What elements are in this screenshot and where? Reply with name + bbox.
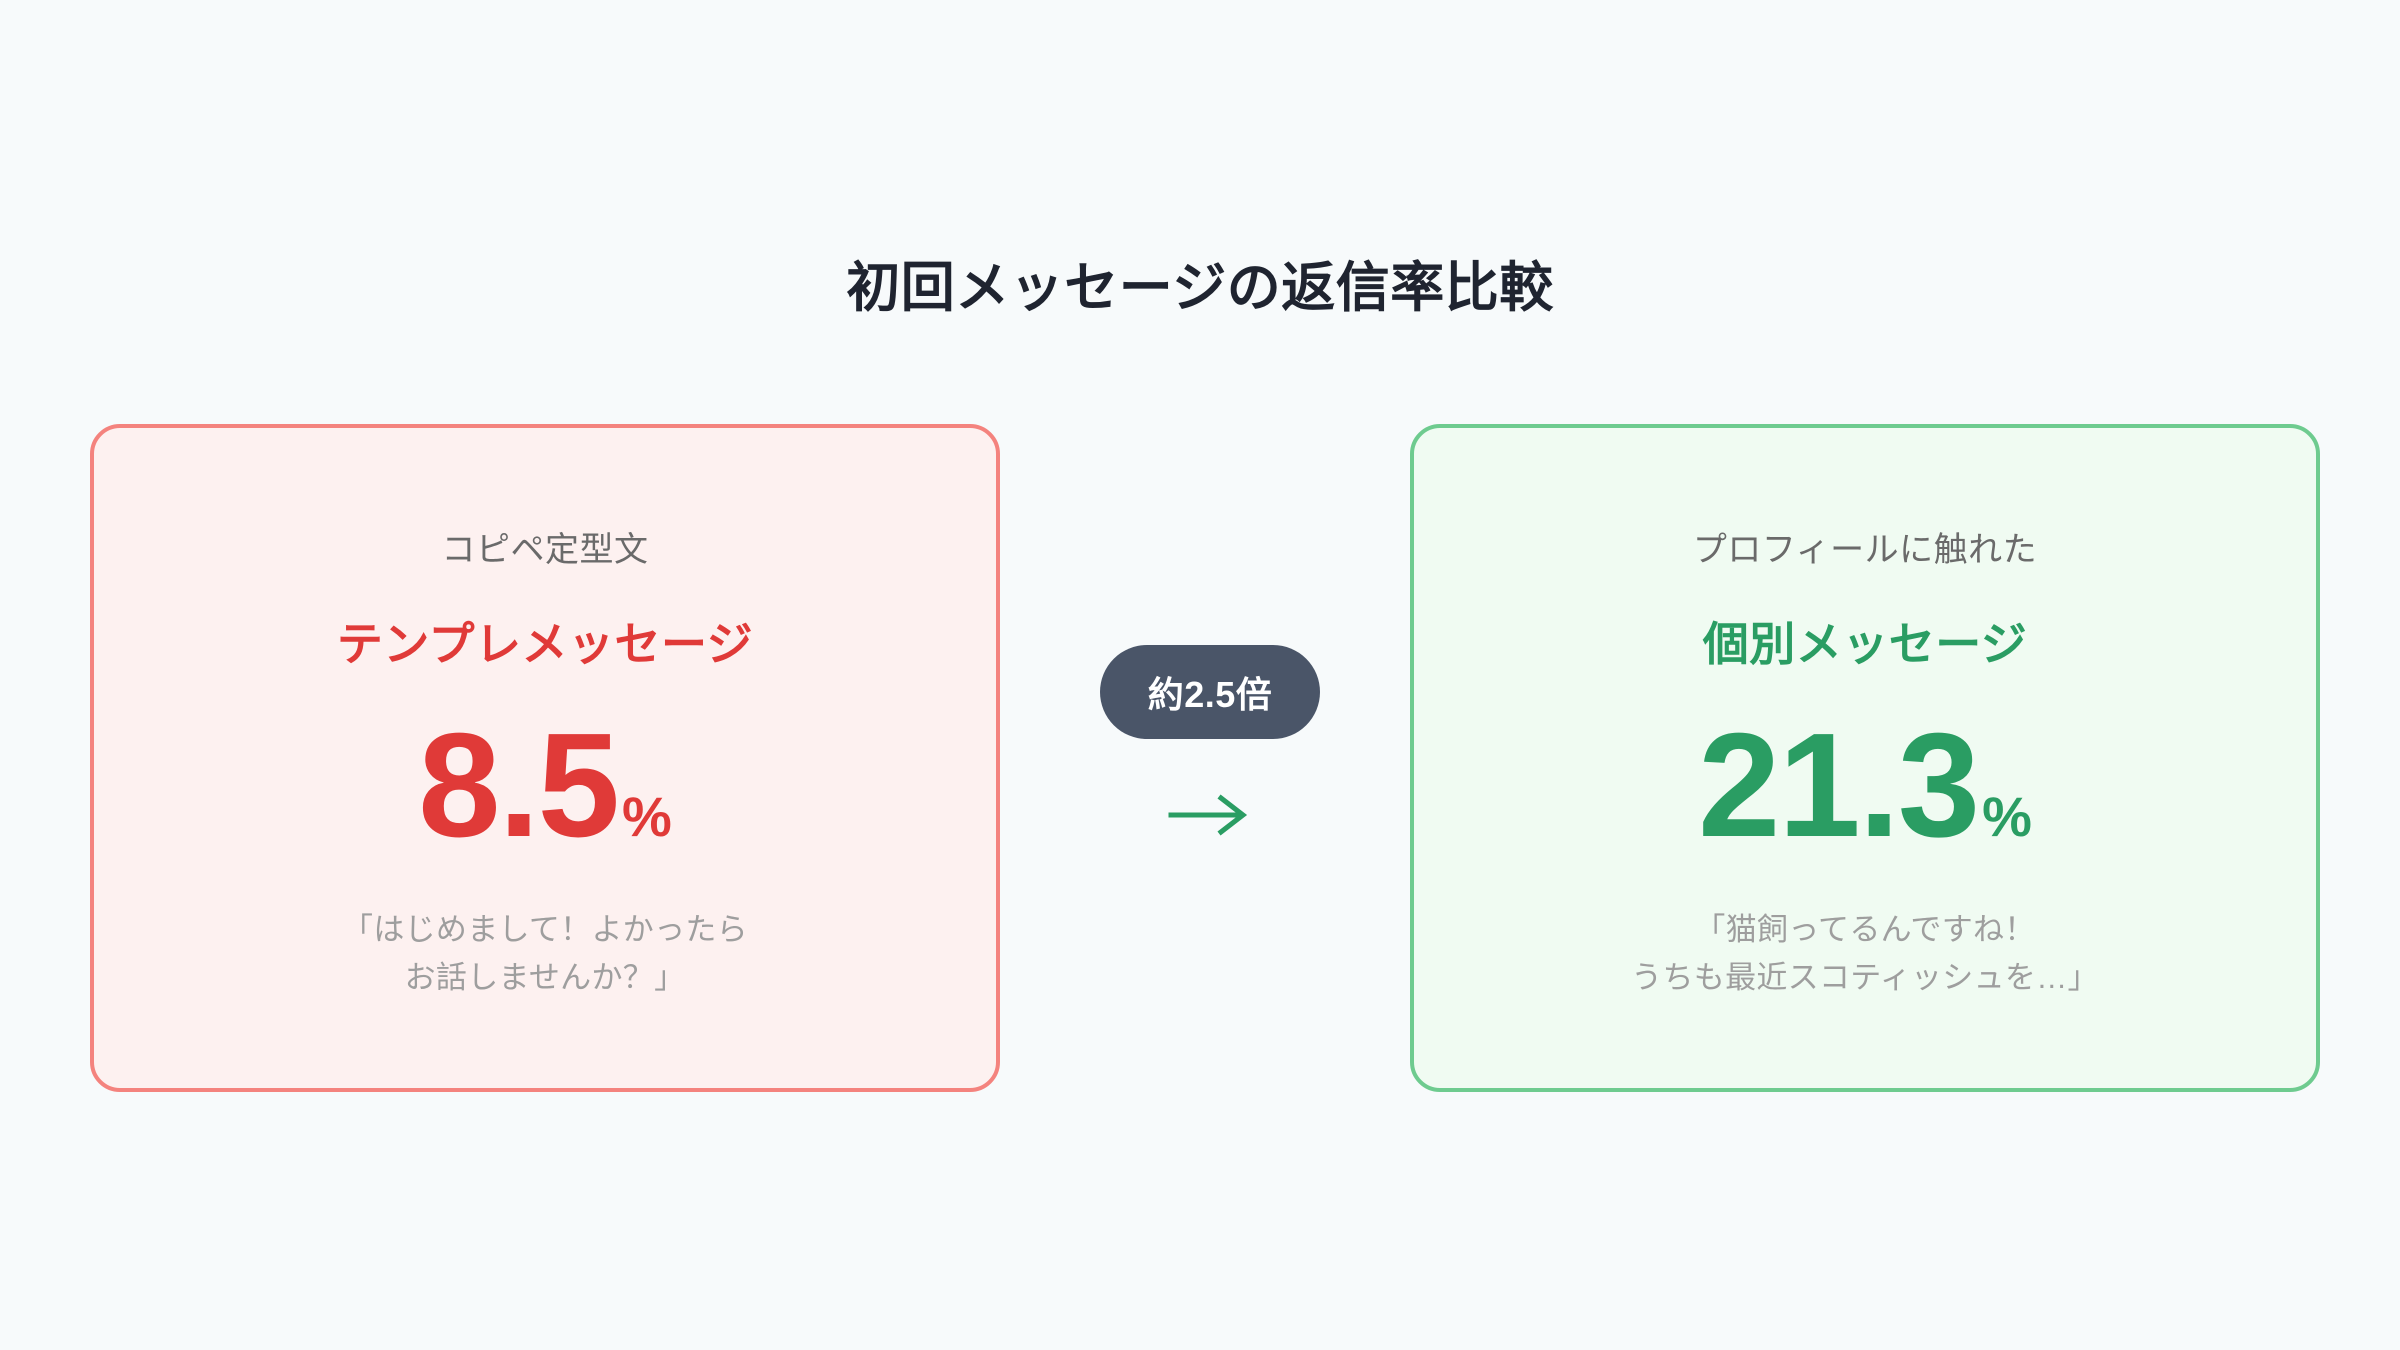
stat-value-right: 21.3	[1698, 712, 1978, 860]
card-quote-left: 「はじめまして！よかったら お話しませんか？」	[342, 906, 748, 1002]
stat-unit-right: %	[1982, 789, 2032, 845]
card-quote-right: 「猫飼ってるんですね！ うちも最近スコティッシュを…」	[1631, 906, 2099, 1002]
card-quote-left-line2: お話しませんか？」	[342, 954, 748, 1002]
card-quote-right-line2: うちも最近スコティッシュを…」	[1631, 954, 2099, 1002]
arrow-right-icon	[1165, 793, 1255, 837]
page-title: 初回メッセージの返信率比較	[0, 255, 2400, 323]
card-heading-left: テンプレメッセージ	[337, 616, 753, 674]
comparison-card-template-message: コピペ定型文 テンプレメッセージ 8.5 % 「はじめまして！よかったら お話し…	[90, 424, 1000, 1092]
stat-right: 21.3 %	[1698, 712, 2032, 860]
comparison-card-personal-message: プロフィールに触れた 個別メッセージ 21.3 % 「猫飼ってるんですね！ うち…	[1410, 424, 2320, 1092]
stat-left: 8.5 %	[418, 712, 672, 860]
arrow-right-container	[1100, 780, 1320, 850]
infographic-root: 初回メッセージの返信率比較 コピペ定型文 テンプレメッセージ 8.5 % 「はじ…	[0, 0, 2400, 1350]
card-eyebrow-right: プロフィールに触れた	[1693, 528, 2037, 572]
card-quote-left-line1: 「はじめまして！よかったら	[342, 906, 748, 954]
stat-unit-left: %	[622, 789, 672, 845]
stat-value-left: 8.5	[418, 712, 618, 860]
multiplier-badge: 約2.5倍	[1100, 645, 1320, 739]
card-eyebrow-left: コピペ定型文	[442, 528, 649, 572]
card-quote-right-line1: 「猫飼ってるんですね！	[1631, 906, 2099, 954]
card-heading-right: 個別メッセージ	[1703, 616, 2028, 674]
